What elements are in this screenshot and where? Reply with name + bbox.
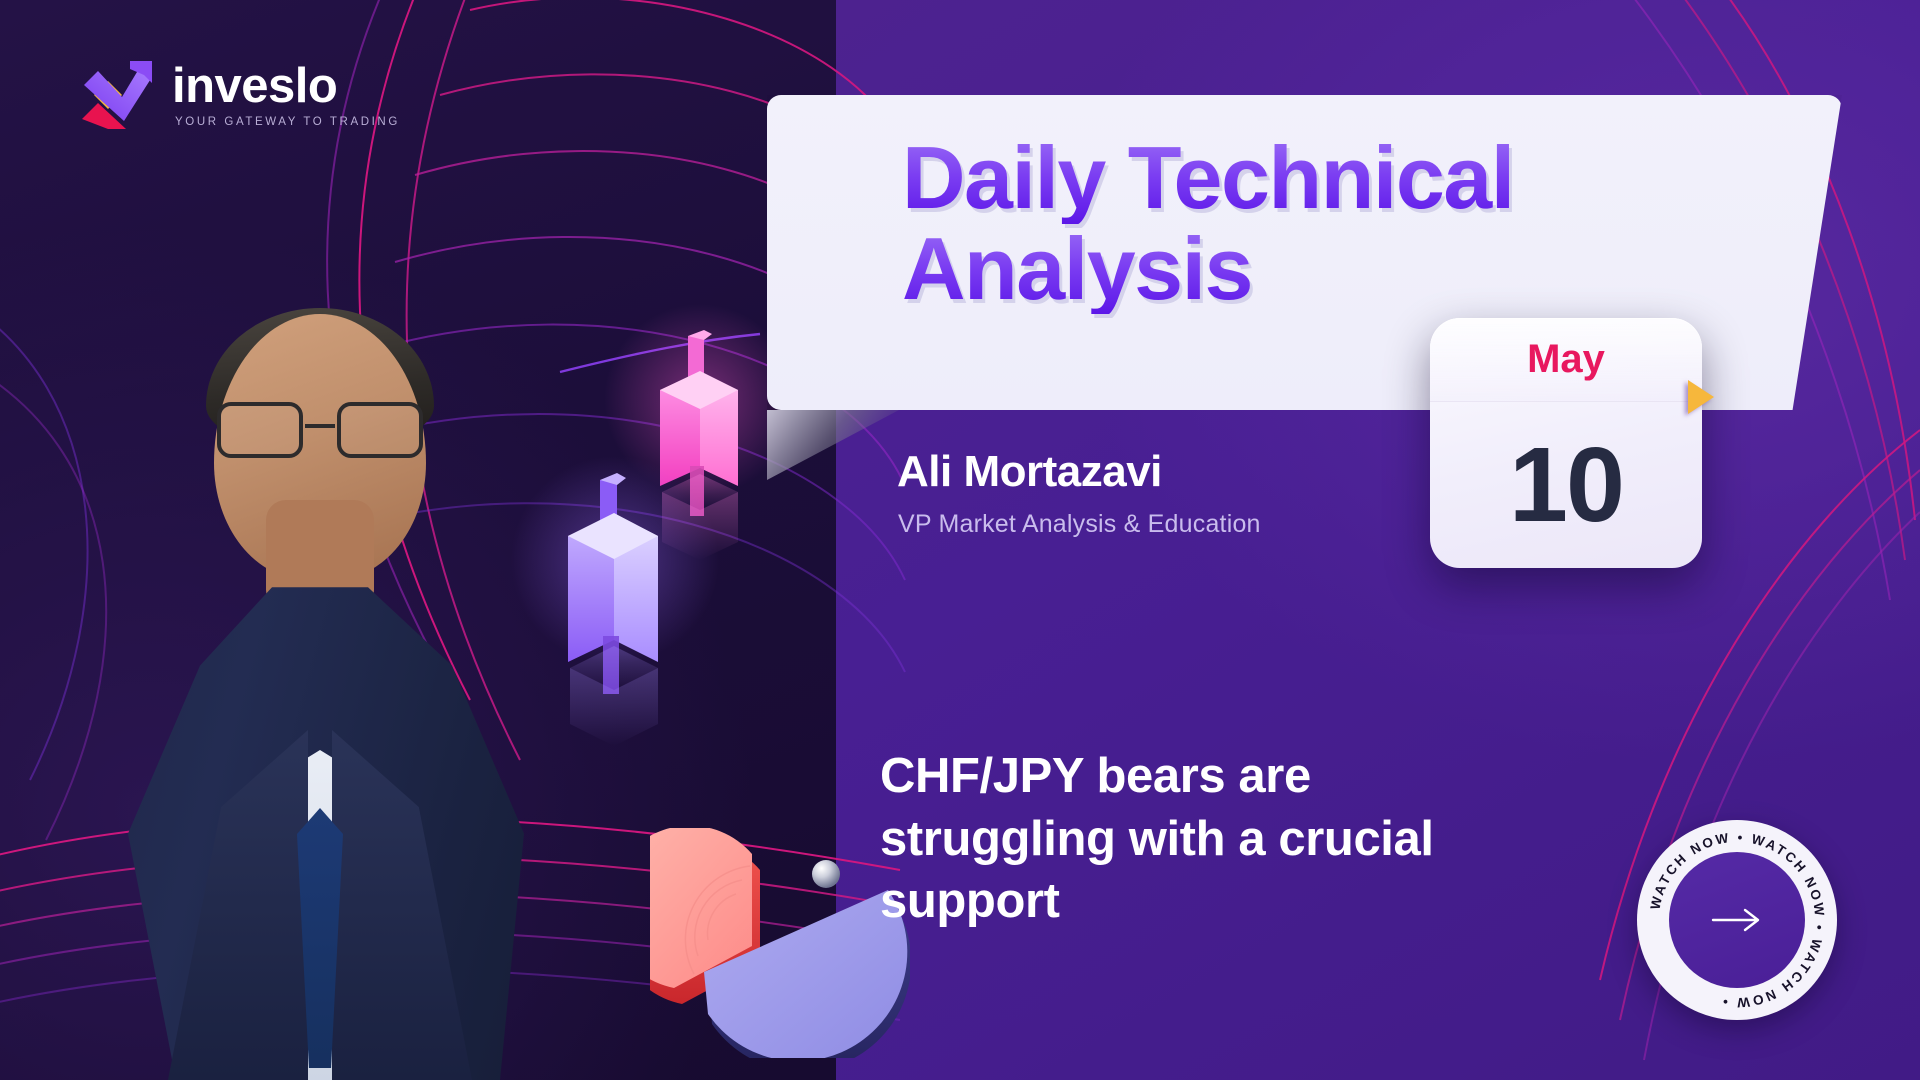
bookmark-triangle-icon	[1688, 380, 1714, 414]
watch-now-core[interactable]	[1669, 852, 1805, 988]
presenter-role: VP Market Analysis & Education	[898, 510, 1261, 539]
watch-now-badge[interactable]: WATCH NOW • WATCH NOW • WATCH NOW •	[1637, 820, 1837, 1020]
title-line-2: Analysis	[902, 224, 1762, 315]
title-line-1: Daily Technical	[902, 133, 1762, 224]
arrow-up-chart-icon	[78, 55, 156, 135]
calendar-header: May	[1430, 318, 1702, 402]
brand-logo[interactable]: inveslo YOUR GATEWAY TO TRADING	[78, 55, 400, 135]
brand-name: inveslo	[172, 62, 400, 110]
presenter-portrait	[0, 140, 640, 1080]
headline-text: CHF/JPY bears are struggling with a cruc…	[880, 745, 1500, 933]
calendar-card: May 10	[1430, 318, 1702, 568]
poster-canvas: inveslo YOUR GATEWAY TO TRADING Daily Te…	[0, 0, 1920, 1080]
brand-tagline: YOUR GATEWAY TO TRADING	[175, 116, 400, 128]
calendar-month: May	[1527, 337, 1605, 382]
presenter-glasses	[217, 402, 423, 460]
presenter-name: Ali Mortazavi	[897, 447, 1162, 497]
arrow-right-icon	[1711, 908, 1763, 932]
calendar-day: 10	[1430, 402, 1702, 568]
pie-chart-3d-icon	[650, 828, 910, 1058]
metal-sphere-icon	[812, 860, 840, 888]
